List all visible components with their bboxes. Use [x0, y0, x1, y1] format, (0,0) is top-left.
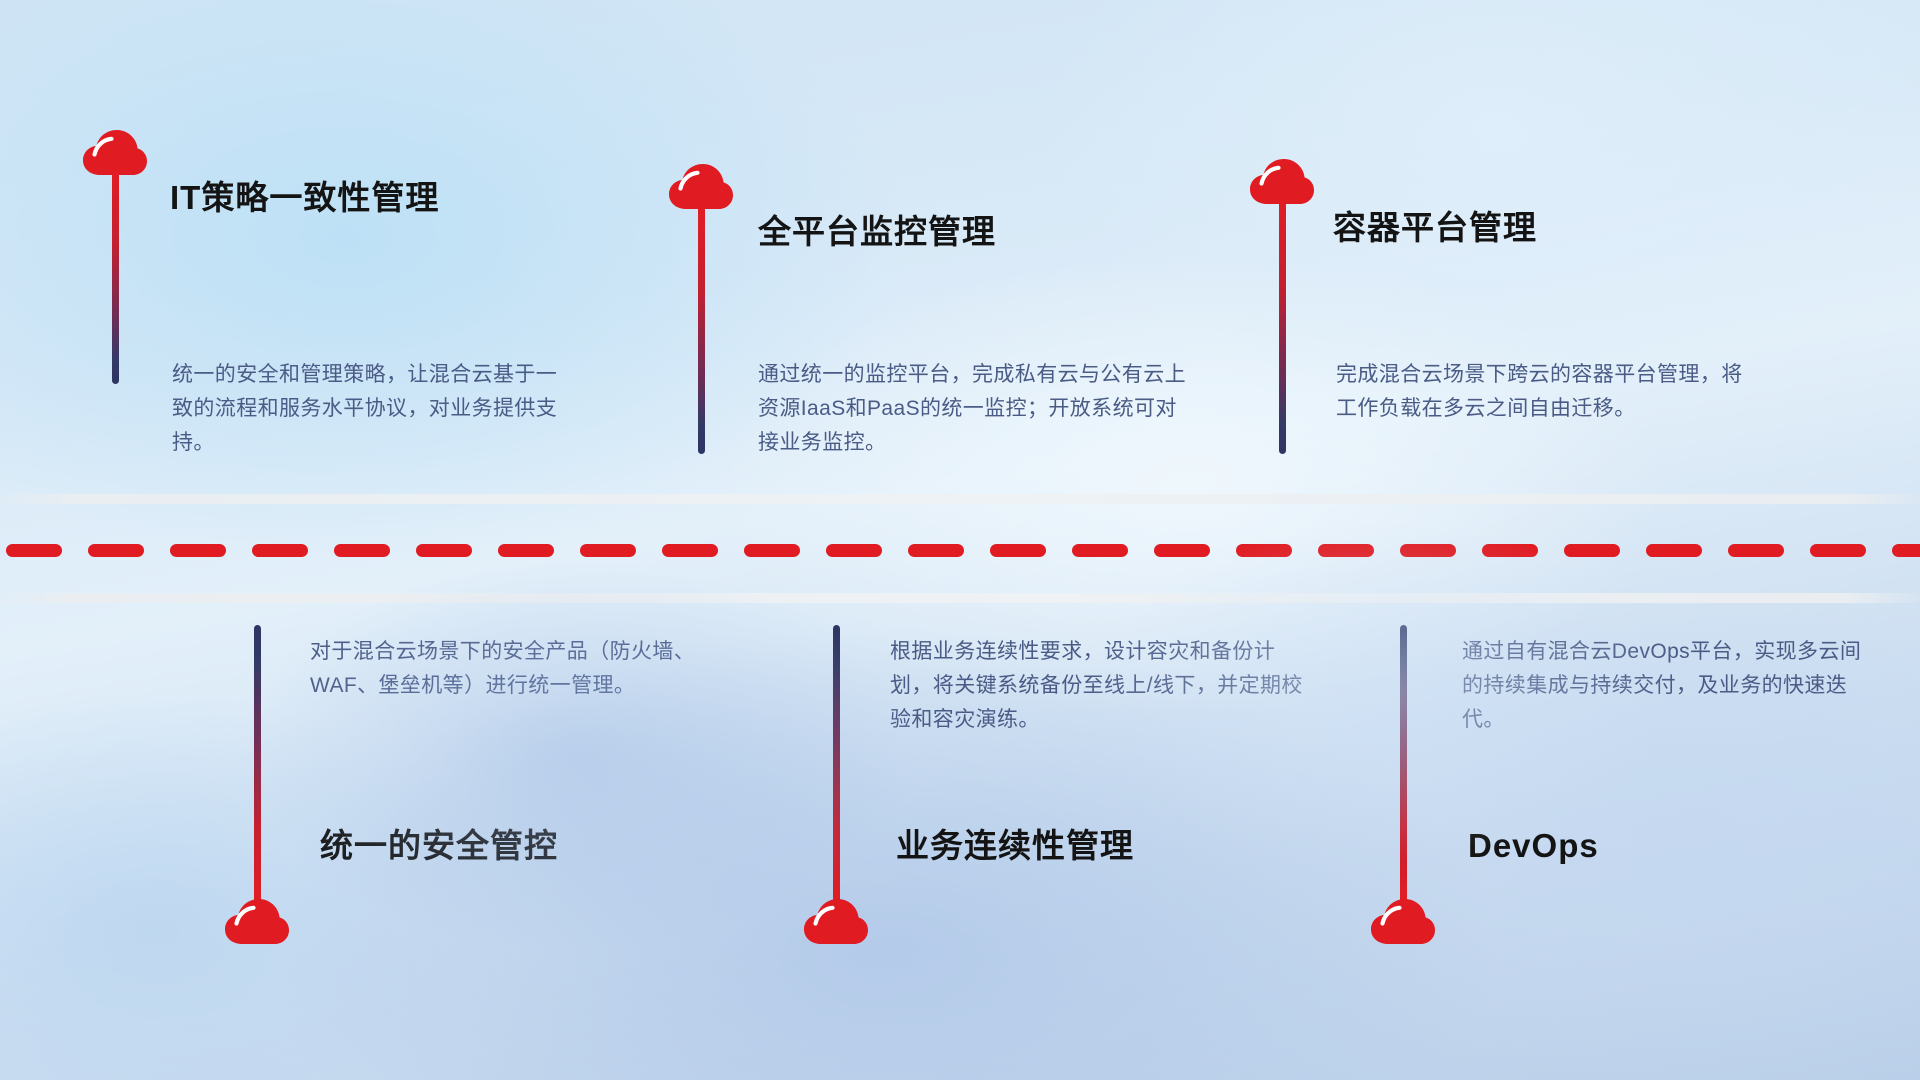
card-title: 统一的安全管控 [320, 826, 558, 866]
dash-segment [334, 544, 390, 557]
stem-line [698, 206, 705, 454]
dash-segment [1564, 544, 1620, 557]
road-edge-top [0, 494, 1920, 504]
dash-segment [1154, 544, 1210, 557]
card-title: 全平台监控管理 [758, 212, 996, 252]
stem-line [254, 625, 261, 903]
dash-segment [1482, 544, 1538, 557]
dash-segment [1892, 544, 1920, 557]
dash-segment [1728, 544, 1784, 557]
dash-segment [252, 544, 308, 557]
dash-segment [990, 544, 1046, 557]
dash-segment [88, 544, 144, 557]
cloud-icon [224, 898, 290, 946]
dash-segment [744, 544, 800, 557]
cloud-icon [1249, 158, 1315, 206]
road-center-dashes [0, 543, 1920, 557]
dash-segment [1318, 544, 1374, 557]
dash-segment [170, 544, 226, 557]
dash-segment [908, 544, 964, 557]
cloud-icon [668, 163, 734, 211]
cloud-icon [82, 129, 148, 177]
dash-segment [1072, 544, 1128, 557]
dash-segment [580, 544, 636, 557]
card-body: 统一的安全和管理策略，让混合云基于一致的流程和服务水平协议，对业务提供支持。 [172, 358, 577, 460]
infographic-canvas: IT策略一致性管理 统一的安全和管理策略，让混合云基于一致的流程和服务水平协议，… [0, 0, 1920, 1080]
card-body: 完成混合云场景下跨云的容器平台管理，将工作负载在多云之间自由迁移。 [1336, 358, 1756, 426]
dash-segment [1810, 544, 1866, 557]
dash-segment [6, 544, 62, 557]
dash-segment [826, 544, 882, 557]
dash-segment [416, 544, 472, 557]
card-body: 通过自有混合云DevOps平台，实现多云间的持续集成与持续交付，及业务的快速迭代… [1462, 635, 1882, 737]
dash-segment [1236, 544, 1292, 557]
stem-line [1279, 201, 1286, 454]
cloud-icon [803, 898, 869, 946]
card-title: DevOps [1468, 826, 1599, 866]
stem-line [112, 172, 119, 384]
stem-line [833, 625, 840, 903]
card-title: 容器平台管理 [1333, 208, 1537, 248]
stem-line [1400, 625, 1407, 903]
card-title: IT策略一致性管理 [170, 178, 439, 218]
road-edge-bottom [0, 593, 1920, 603]
dash-segment [662, 544, 718, 557]
card-body: 对于混合云场景下的安全产品（防火墙、WAF、堡垒机等）进行统一管理。 [310, 635, 728, 703]
card-title: 业务连续性管理 [896, 826, 1134, 866]
cloud-icon [1370, 898, 1436, 946]
dash-segment [1646, 544, 1702, 557]
card-body: 根据业务连续性要求，设计容灾和备份计划，将关键系统备份至线上/线下，并定期校验和… [890, 635, 1315, 737]
card-body: 通过统一的监控平台，完成私有云与公有云上资源IaaS和PaaS的统一监控；开放系… [758, 358, 1190, 460]
dash-segment [1400, 544, 1456, 557]
dash-segment [498, 544, 554, 557]
